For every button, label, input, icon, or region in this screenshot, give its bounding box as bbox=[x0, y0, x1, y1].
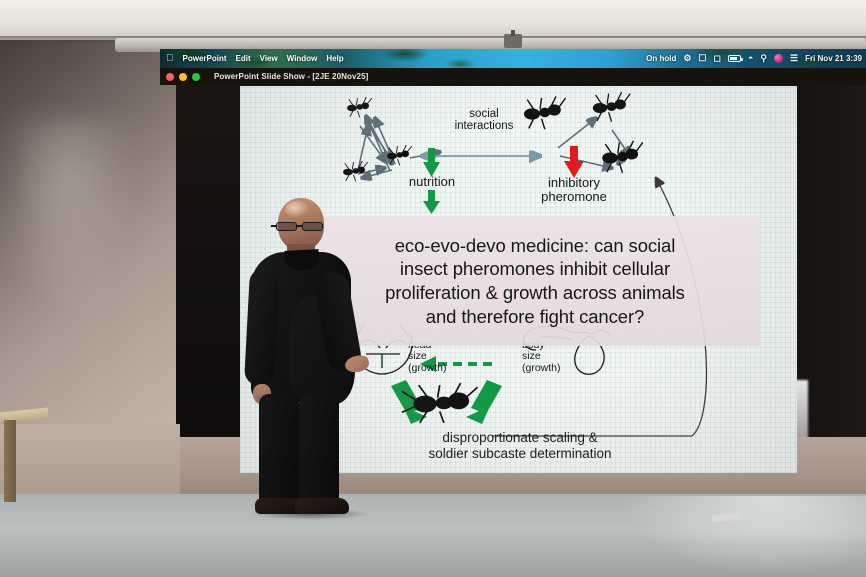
menu-item-window[interactable]: Window bbox=[287, 54, 318, 63]
screen-mirroring-icon[interactable]: ◻ bbox=[713, 54, 720, 63]
control-center-icon[interactable]: ☰ bbox=[790, 54, 798, 63]
presenter-head-highlight bbox=[285, 201, 309, 218]
menu-item-edit[interactable]: Edit bbox=[236, 54, 251, 63]
powerpoint-title-bar: PowerPoint Slide Show - [2JE 20Nov25] bbox=[160, 68, 866, 85]
floor-light-sheen bbox=[620, 496, 866, 576]
presenter-legs bbox=[259, 394, 343, 506]
bluetooth-icon[interactable]: ⚙ bbox=[683, 54, 691, 63]
battery-icon[interactable] bbox=[728, 55, 741, 62]
side-table bbox=[0, 410, 48, 502]
search-icon[interactable]: ⚲ bbox=[760, 54, 767, 63]
window-title: PowerPoint Slide Show - [2JE 20Nov25] bbox=[214, 72, 368, 81]
glasses-temple bbox=[271, 225, 277, 227]
glasses-left-lens bbox=[276, 222, 297, 231]
menu-bar-app-menus:  PowerPoint Edit View Window Help bbox=[160, 54, 344, 64]
presenter-figure bbox=[245, 198, 365, 520]
status-text-on-hold[interactable]: On hold bbox=[646, 54, 676, 63]
menu-item-powerpoint[interactable]: PowerPoint bbox=[183, 54, 227, 63]
overlay-question-box: eco-evo-devo medicine: can social insect… bbox=[304, 216, 760, 346]
zoom-button[interactable] bbox=[192, 73, 200, 81]
label-bottom-caption: disproportionate scaling & soldier subca… bbox=[360, 430, 680, 463]
display-icon[interactable]: ☐ bbox=[698, 54, 706, 63]
wall-light-glow bbox=[18, 120, 136, 320]
ceiling bbox=[0, 0, 866, 40]
overlay-line-1: eco-evo-devo medicine: can social bbox=[310, 234, 760, 258]
macos-menu-bar[interactable]:  PowerPoint Edit View Window Help On ho… bbox=[160, 49, 866, 68]
glasses-icon bbox=[275, 222, 327, 231]
presenter-leg-left bbox=[259, 394, 299, 506]
menu-bar-status-items: On hold ⚙ ☐ ◻ ◓ ⚲ ☰ Fri Nov 21 3:39 bbox=[646, 49, 862, 68]
roller-bracket-icon bbox=[504, 34, 522, 48]
siri-icon[interactable] bbox=[774, 54, 783, 63]
overlay-line-3: proliferation & growth across animals bbox=[310, 281, 760, 305]
label-social-interactions: social interactions bbox=[438, 108, 530, 133]
overlay-question-text: eco-evo-devo medicine: can social insect… bbox=[310, 234, 760, 329]
minimize-button[interactable] bbox=[179, 73, 187, 81]
overlay-line-2: insect pheromones inhibit cellular bbox=[310, 257, 760, 281]
presenter-leg-right bbox=[299, 394, 339, 506]
glasses-bridge bbox=[297, 225, 302, 227]
menu-item-help[interactable]: Help bbox=[326, 54, 343, 63]
side-table-leg bbox=[4, 420, 16, 502]
wifi-icon[interactable]: ◓ bbox=[748, 54, 753, 63]
glasses-right-lens bbox=[302, 222, 323, 231]
close-button[interactable] bbox=[166, 73, 174, 81]
overlay-line-4: and therefore fight cancer? bbox=[310, 305, 760, 329]
screenshot-stage:  PowerPoint Edit View Window Help On ho… bbox=[0, 0, 866, 577]
menu-item-view[interactable]: View bbox=[260, 54, 278, 63]
menu-bar-clock[interactable]: Fri Nov 21 3:39 bbox=[805, 54, 862, 63]
presenter-left-arm bbox=[244, 267, 280, 386]
label-nutrition: nutrition bbox=[386, 175, 478, 189]
label-inhibitory-pheromone: inhibitory pheromone bbox=[512, 176, 636, 204]
presenter-shoe-right bbox=[295, 498, 349, 514]
apple-icon[interactable]:  bbox=[166, 54, 174, 64]
